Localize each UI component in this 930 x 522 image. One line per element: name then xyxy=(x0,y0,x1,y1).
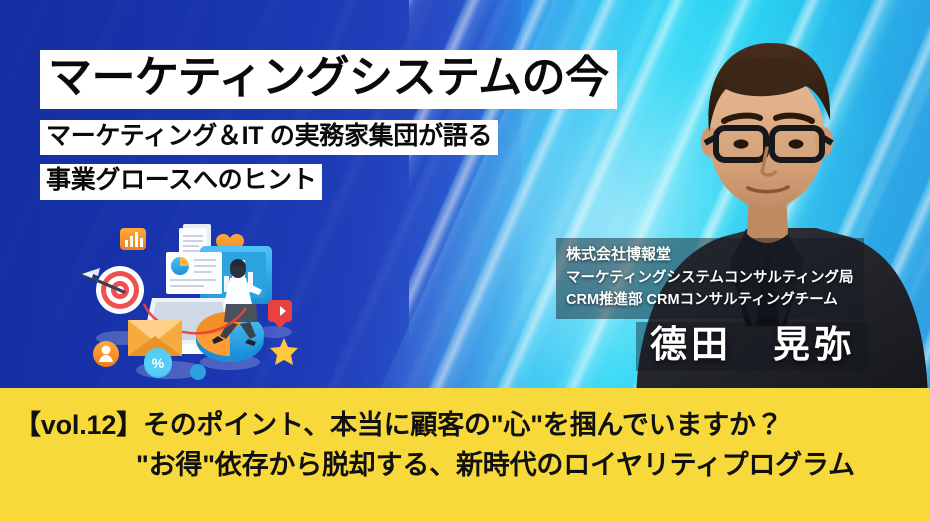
star-icon xyxy=(270,338,298,365)
speaker-department: マーケティングシステムコンサルティング局 xyxy=(566,267,854,289)
episode-banner: 【vol.12】そのポイント、本当に顧客の"心"を掴んでいますか？ "お得"依存… xyxy=(0,388,930,522)
report-page-icon xyxy=(166,252,222,294)
percent-badge-icon: % xyxy=(144,348,172,378)
page-title: マーケティングシステムの今 xyxy=(40,50,617,109)
seminar-banner: マーケティングシステムの今 マーケティング＆IT の実務家集団が語る 事業グロー… xyxy=(0,0,930,522)
user-avatar-icon xyxy=(93,341,119,367)
bar-chart-icon xyxy=(120,228,146,250)
title-block: マーケティングシステムの今 マーケティング＆IT の実務家集団が語る 事業グロー… xyxy=(40,50,617,200)
marketing-illustration: % xyxy=(78,212,318,392)
speaker-name: 德田 晃弥 xyxy=(650,324,855,365)
speaker-team: CRM推進部 CRMコンサルティングチーム xyxy=(566,289,854,311)
speaker-name-box: 德田 晃弥 xyxy=(636,322,869,371)
speaker-company: 株式会社博報堂 xyxy=(566,244,854,267)
subtitle-line-1: マーケティング＆IT の実務家集団が語る xyxy=(40,120,498,156)
video-play-icon xyxy=(268,300,292,328)
speaker-credentials: 株式会社博報堂 マーケティングシステムコンサルティング局 CRM推進部 CRMコ… xyxy=(556,238,864,319)
episode-title-line-2: "お得"依存から脱却する、新時代のロイヤリティプログラム xyxy=(0,446,930,486)
svg-text:%: % xyxy=(152,355,165,371)
subtitle-line-2: 事業グロースへのヒント xyxy=(40,164,322,200)
episode-title-line-1: 【vol.12】そのポイント、本当に顧客の"心"を掴んでいますか？ xyxy=(0,406,930,446)
dot-icon xyxy=(190,364,206,380)
target-dartboard-icon xyxy=(82,266,144,314)
